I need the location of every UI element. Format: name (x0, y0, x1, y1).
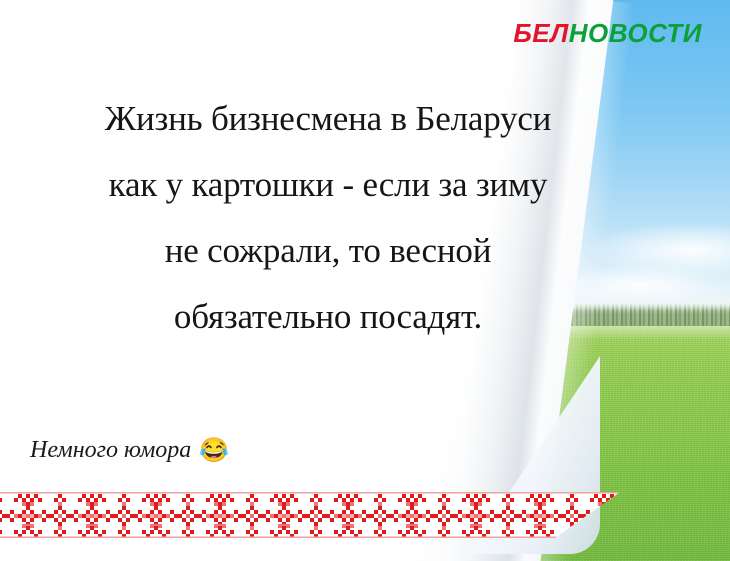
image-canvas: БЕЛНОВОСТИ Жизнь бизнесмена в Беларуси к… (0, 0, 730, 561)
joke-line-2: как у картошки - если за зиму (0, 152, 656, 218)
joke-line-3: не сожрали, то весной (0, 218, 656, 284)
logo-text-novosti: НОВОСТИ (569, 18, 702, 48)
belarusian-embroidery-pattern-icon (0, 492, 620, 538)
ornament-band (0, 492, 620, 538)
joke-line-1: Жизнь бизнесмена в Беларуси (0, 86, 656, 152)
joke-text-block: Жизнь бизнесмена в Беларуси как у картош… (0, 86, 656, 350)
logo-text-bel: БЕЛ (513, 18, 568, 48)
belnovosti-logo: БЕЛНОВОСТИ (513, 18, 702, 49)
laughing-emoji-icon: 😂 (199, 439, 229, 463)
caption-label: Немного юмора (30, 437, 191, 464)
caption: Немного юмора 😂 (30, 437, 229, 464)
joke-line-4: обязательно посадят. (0, 284, 656, 350)
